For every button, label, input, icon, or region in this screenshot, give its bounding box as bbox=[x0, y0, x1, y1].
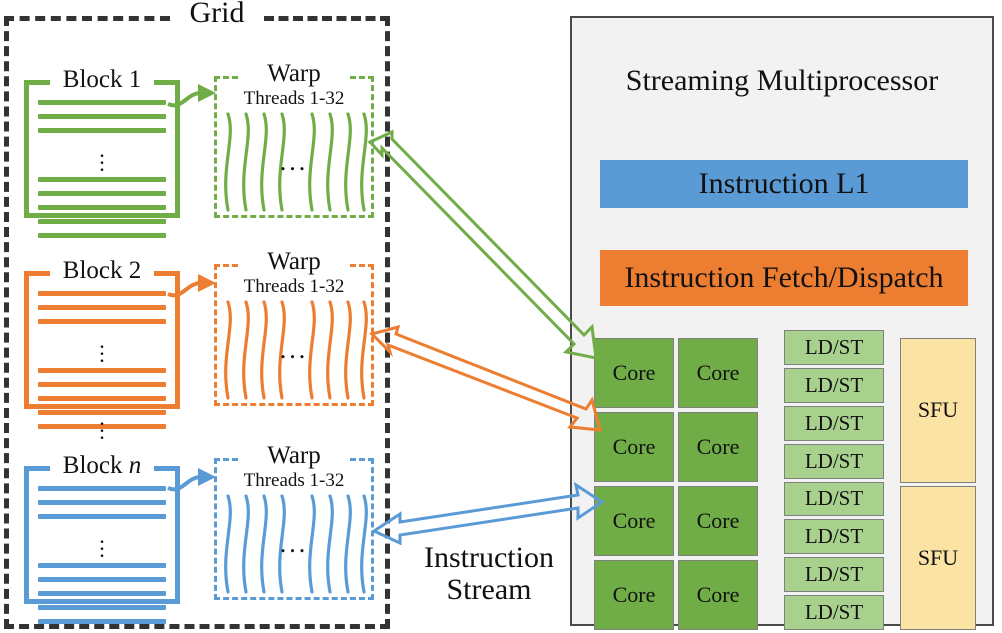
block-line bbox=[38, 191, 166, 196]
warp-n-border-top-right bbox=[350, 458, 374, 461]
warp-1-threads: ... bbox=[214, 112, 374, 212]
block-2-border-top-left bbox=[24, 271, 50, 276]
arrow-warpn-to-core-bidirectional bbox=[374, 485, 602, 543]
warp-2-border-top-left bbox=[214, 264, 238, 267]
instruction-stream-line-1: Instruction bbox=[404, 542, 574, 574]
block-line bbox=[38, 396, 166, 401]
warp-n-threads: ... bbox=[214, 494, 374, 594]
warp-1-border-top-left bbox=[214, 76, 238, 79]
block-line bbox=[38, 219, 166, 224]
warp-1-subtitle: Threads 1-32 bbox=[214, 88, 374, 110]
sfu-column: SFU SFU bbox=[900, 338, 976, 630]
block-line bbox=[38, 591, 166, 596]
block-line bbox=[38, 577, 166, 582]
block-2-border-top-right bbox=[154, 271, 180, 276]
block-1-label: Block 1 bbox=[50, 66, 154, 94]
block-line bbox=[38, 100, 166, 105]
diagram-canvas: Grid Block 1 ... Block 2 ... bbox=[0, 0, 1002, 633]
block-1-border-top-right bbox=[154, 80, 180, 85]
block-2-ellipsis: ... bbox=[38, 333, 166, 368]
instruction-fetch-dispatch-block: Instruction Fetch/Dispatch bbox=[600, 250, 968, 306]
ldst-unit: LD/ST bbox=[784, 406, 884, 441]
block-line bbox=[38, 319, 166, 324]
block-line bbox=[38, 619, 166, 624]
block-line bbox=[38, 500, 166, 505]
core-unit: Core bbox=[594, 560, 674, 630]
ldst-unit: LD/ST bbox=[784, 444, 884, 479]
sfu-unit: SFU bbox=[900, 486, 976, 631]
grid-label: Grid bbox=[170, 0, 264, 30]
block-line bbox=[38, 305, 166, 310]
warp-n-subtitle: Threads 1-32 bbox=[214, 470, 374, 492]
warp-2-title: Warp bbox=[238, 248, 350, 276]
block-1: Block 1 ... bbox=[24, 66, 180, 218]
blocks-ellipsis: ... bbox=[24, 414, 180, 435]
block-line bbox=[38, 605, 166, 610]
warp-1-title: Warp bbox=[238, 60, 350, 88]
grid-border-top-left bbox=[4, 16, 170, 21]
block-1-lines: ... bbox=[38, 100, 166, 206]
core-unit: Core bbox=[594, 412, 674, 482]
block-line bbox=[38, 233, 166, 238]
warp-n-title: Warp bbox=[238, 442, 350, 470]
block-line bbox=[38, 486, 166, 491]
grid-border-top-right bbox=[264, 16, 390, 21]
ldst-unit: LD/ST bbox=[784, 519, 884, 554]
arrow-warp2-to-core-bidirectional bbox=[372, 327, 600, 430]
warp-1-border-top-right bbox=[350, 76, 374, 79]
sfu-unit: SFU bbox=[900, 338, 976, 483]
block-line bbox=[38, 514, 166, 519]
instruction-stream-line-2: Stream bbox=[404, 574, 574, 606]
ldst-column: LD/ST LD/ST LD/ST LD/ST LD/ST LD/ST LD/S… bbox=[784, 330, 884, 630]
sm-title: Streaming Multiprocessor bbox=[572, 64, 992, 98]
core-unit: Core bbox=[678, 338, 758, 408]
block-line bbox=[38, 177, 166, 182]
block-n-border-top-right bbox=[154, 466, 180, 471]
ldst-unit: LD/ST bbox=[784, 368, 884, 403]
ldst-unit: LD/ST bbox=[784, 482, 884, 517]
block-n-ellipsis: ... bbox=[38, 528, 166, 563]
block-line bbox=[38, 128, 166, 133]
instruction-stream-label: Instruction Stream bbox=[404, 542, 574, 607]
block-line bbox=[38, 382, 166, 387]
warp-2: Warp Threads 1-32 ... bbox=[214, 250, 374, 406]
warp-2-border-top-right bbox=[350, 264, 374, 267]
core-unit: Core bbox=[678, 412, 758, 482]
block-line bbox=[38, 291, 166, 296]
block-2-label: Block 2 bbox=[50, 257, 154, 285]
block-n-lines: ... bbox=[38, 486, 166, 592]
block-n-label-text: Block bbox=[63, 452, 129, 479]
warp-n: Warp Threads 1-32 ... bbox=[214, 444, 374, 600]
ldst-unit: LD/ST bbox=[784, 595, 884, 630]
block-n-border-top-left bbox=[24, 466, 50, 471]
ldst-unit: LD/ST bbox=[784, 330, 884, 365]
block-line bbox=[38, 368, 166, 373]
warp-n-ellipsis: ... bbox=[280, 529, 309, 559]
block-line bbox=[38, 114, 166, 119]
warp-2-ellipsis: ... bbox=[280, 335, 309, 365]
block-1-ellipsis: ... bbox=[38, 142, 166, 177]
ldst-unit: LD/ST bbox=[784, 557, 884, 592]
block-n-label: Block n bbox=[50, 452, 154, 480]
block-n: Block n ... bbox=[24, 452, 180, 604]
warp-n-border-top-left bbox=[214, 458, 238, 461]
warp-1-ellipsis: ... bbox=[280, 147, 309, 177]
block-line bbox=[38, 205, 166, 210]
instruction-l1-block: Instruction L1 bbox=[600, 160, 968, 208]
streaming-multiprocessor-panel: Streaming Multiprocessor Instruction L1 … bbox=[570, 16, 994, 626]
warp-2-subtitle: Threads 1-32 bbox=[214, 276, 374, 298]
block-line bbox=[38, 563, 166, 568]
block-1-border-top-left bbox=[24, 80, 50, 85]
core-unit: Core bbox=[594, 338, 674, 408]
core-unit: Core bbox=[678, 560, 758, 630]
block-2: Block 2 ... bbox=[24, 257, 180, 409]
core-unit: Core bbox=[678, 486, 758, 556]
block-n-label-index: n bbox=[129, 452, 142, 479]
warp-2-threads: ... bbox=[214, 300, 374, 400]
block-2-lines: ... bbox=[38, 291, 166, 397]
core-unit: Core bbox=[594, 486, 674, 556]
warp-1: Warp Threads 1-32 ... bbox=[214, 62, 374, 218]
arrow-warp1-to-core-bidirectional bbox=[370, 132, 596, 358]
core-grid: Core Core Core Core Core Core Core Core bbox=[594, 338, 758, 630]
